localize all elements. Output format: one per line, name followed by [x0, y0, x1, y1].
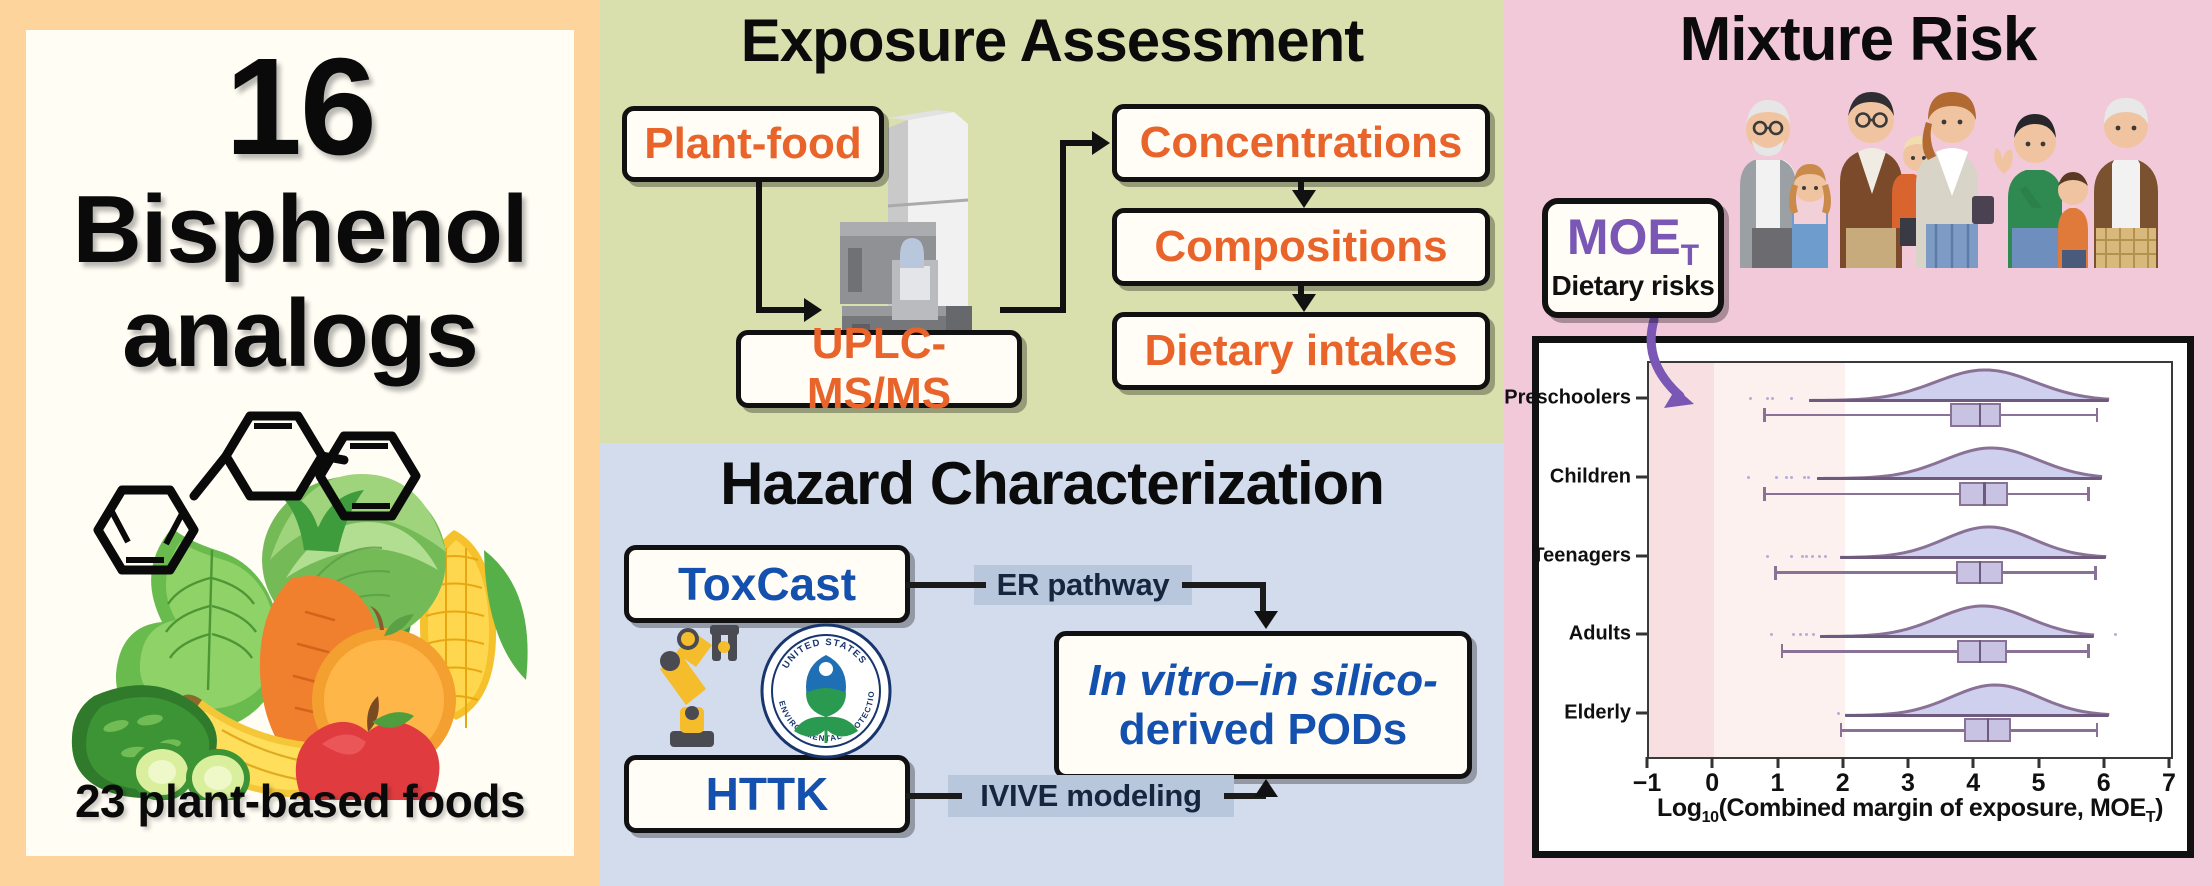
connector-erpathway-right: [1182, 582, 1266, 588]
connector-plantfood-down: [756, 182, 762, 310]
x-axis-tick: [1776, 757, 1779, 768]
box-moe-t[interactable]: MOET Dietary risks: [1542, 198, 1724, 318]
x-axis-tick: [1841, 757, 1844, 768]
pods-line-2: derived PODs: [1119, 705, 1408, 754]
bisphenol-heading: Bisphenol analogs: [26, 178, 574, 385]
arrow-conc-to-comp: [1292, 190, 1316, 208]
outlier-point: [1824, 555, 1827, 558]
box-in-vitro-in-silico-pods[interactable]: In vitro–in silico- derived PODs: [1054, 631, 1472, 779]
whisker-cap-low: [1763, 408, 1766, 422]
plant-based-foods-caption: 23 plant-based foods: [26, 774, 574, 828]
box-preschoolers: [1950, 403, 2001, 427]
y-axis-label-elderly: Elderly: [1564, 702, 1631, 725]
whisker-cap-high: [2087, 487, 2090, 501]
bisphenol-heading-line2: analogs: [122, 280, 478, 387]
density-rug-preschoolers: [1809, 399, 2109, 402]
x-axis-tick: [1907, 757, 1910, 768]
density-rug-teenagers: [1840, 556, 2106, 559]
bisphenol-count: 16: [26, 38, 574, 176]
y-axis-tick: [1636, 475, 1647, 478]
x-axis-tick: [2102, 757, 2105, 768]
box-compositions-label: Compositions: [1154, 222, 1447, 272]
box-concentrations-label: Concentrations: [1140, 118, 1463, 168]
bisphenol-molecule-and-produce-illustration: [54, 400, 546, 800]
outlier-point: [1790, 555, 1793, 558]
connector-httk-right: [906, 793, 962, 799]
moe-t-label: MOET: [1567, 214, 1699, 270]
box-httk-label: HTTK: [706, 767, 829, 821]
whisker-adults: [1781, 650, 2088, 653]
y-axis-label-preschoolers: Preschoolers: [1504, 387, 1631, 410]
x-axis-tick: [1711, 757, 1714, 768]
box-uplc-ms-ms[interactable]: UPLC-MS/MS: [736, 330, 1022, 408]
whisker-cap-low: [1840, 723, 1843, 737]
arrow-to-pods-bottom: [1254, 779, 1278, 797]
density-curve-teenagers: [1840, 526, 2106, 558]
box-plant-food-label: Plant-food: [644, 119, 862, 169]
middle-column: Exposure Assessment: [600, 0, 1504, 886]
mixture-risk-title: Mixture Risk: [1504, 4, 2212, 75]
box-httk[interactable]: HTTK: [624, 755, 910, 833]
outlier-point: [1766, 555, 1769, 558]
moe-t-caption: Dietary risks: [1552, 270, 1715, 302]
arrow-to-concentrations: [1092, 131, 1110, 155]
median-line-preschoolers: [1979, 403, 1982, 427]
moe-boxplot-chart: PreschoolersChildrenTeenagersAdultsElder…: [1532, 336, 2194, 858]
pods-line-1: In vitro–in silico-: [1088, 656, 1438, 705]
bisphenol-heading-line1: Bisphenol: [72, 176, 527, 283]
outlier-point: [1803, 476, 1806, 479]
median-line-children: [1983, 482, 1986, 506]
density-rug-children: [1817, 477, 2102, 480]
box-toxcast[interactable]: ToxCast: [624, 545, 910, 623]
connector-toxcast-right: [906, 582, 986, 588]
whisker-cap-low: [1774, 566, 1777, 580]
box-adults: [1957, 640, 2007, 664]
outlier-point: [1801, 555, 1804, 558]
connector-instrument-right: [1000, 307, 1066, 313]
x-axis-tick: [1972, 757, 1975, 768]
tag-ivive-modeling: IVIVE modeling: [948, 775, 1234, 817]
connector-to-concentrations: [1060, 140, 1096, 146]
multigenerational-family-illustration: [1740, 78, 2210, 268]
outlier-point: [1775, 476, 1778, 479]
whisker-cap-low: [1763, 487, 1766, 501]
panel-bisphenol-overview: 16 Bisphenol analogs: [0, 0, 600, 886]
median-line-teenagers: [1979, 561, 1982, 585]
whisker-cap-high: [2096, 723, 2099, 737]
whisker-teenagers: [1774, 571, 2094, 574]
arrow-to-pods-top: [1254, 611, 1278, 629]
y-axis-label-adults: Adults: [1569, 623, 1631, 646]
high-risk-band: [1649, 363, 1714, 757]
outlier-point: [1790, 397, 1793, 400]
arrow-to-instrument: [804, 298, 822, 322]
median-line-elderly: [1987, 718, 1990, 742]
whisker-cap-high: [2096, 408, 2099, 422]
y-axis-tick: [1636, 633, 1647, 636]
x-axis-tick: [2168, 757, 2171, 768]
y-axis-label-children: Children: [1550, 465, 1631, 488]
density-curve-elderly: [1845, 684, 2109, 716]
connector-instrument-up: [1060, 140, 1066, 313]
outlier-point: [1837, 712, 1840, 715]
moe-t-main-text: MOE: [1567, 209, 1681, 265]
panel-exposure-assessment: Exposure Assessment: [600, 0, 1504, 443]
panel-mixture-risk: Mixture Risk: [1504, 0, 2212, 886]
connector-plantfood-right: [756, 307, 806, 313]
outlier-point: [1785, 476, 1788, 479]
outlier-point: [1811, 555, 1814, 558]
x-axis-title: Log10(Combined margin of exposure, MOET): [1647, 794, 2173, 827]
median-line-adults: [1979, 640, 1982, 664]
density-curve-adults: [1820, 605, 2094, 637]
box-concentrations[interactable]: Concentrations: [1112, 104, 1490, 182]
tag-er-pathway: ER pathway: [974, 565, 1192, 605]
connector-erpathway-down: [1260, 582, 1266, 614]
y-axis-tick: [1636, 712, 1647, 715]
whisker-preschoolers: [1763, 414, 2096, 417]
box-dietary-intakes[interactable]: Dietary intakes: [1112, 312, 1490, 390]
panel-hazard-characterization: Hazard Characterization ToxCast HTTK: [600, 443, 1504, 886]
y-axis-tick: [1636, 554, 1647, 557]
y-axis-label-teenagers: Teenagers: [1532, 544, 1631, 567]
outlier-point: [1749, 397, 1752, 400]
plot-area: [1647, 361, 2173, 759]
us-epa-seal: UNITED STATES ENVIRONMENTAL PROTECTION A…: [758, 621, 894, 761]
density-rug-elderly: [1845, 714, 2109, 717]
robotic-arm-illustration: [630, 625, 756, 755]
moderate-risk-band: [1714, 363, 1845, 757]
whisker-cap-low: [1781, 644, 1784, 658]
graphical-abstract: 16 Bisphenol analogs: [0, 0, 2212, 886]
box-dietary-intakes-label: Dietary intakes: [1144, 326, 1457, 376]
tag-ivive-modeling-label: IVIVE modeling: [980, 778, 1201, 814]
moe-t-subscript: T: [1681, 239, 1699, 272]
box-plant-food[interactable]: Plant-food: [622, 106, 884, 182]
outlier-point: [1747, 476, 1750, 479]
box-uplc-ms-ms-label: UPLC-MS/MS: [741, 319, 1017, 419]
bisphenol-card: 16 Bisphenol analogs: [26, 30, 574, 856]
arrow-comp-to-intake: [1292, 294, 1316, 312]
outlier-point: [1790, 476, 1793, 479]
density-curve-children: [1817, 447, 2102, 479]
whisker-children: [1763, 493, 2087, 496]
density-curve-preschoolers: [1809, 369, 2109, 401]
density-rug-adults: [1820, 635, 2094, 638]
x-axis-tick: [1646, 757, 1649, 768]
y-axis-tick: [1636, 397, 1647, 400]
hazard-characterization-title: Hazard Characterization: [600, 449, 1504, 518]
box-compositions[interactable]: Compositions: [1112, 208, 1490, 286]
tag-er-pathway-label: ER pathway: [997, 567, 1170, 603]
whisker-cap-high: [2094, 566, 2097, 580]
x-axis-tick: [2037, 757, 2040, 768]
exposure-assessment-title: Exposure Assessment: [600, 6, 1504, 75]
box-toxcast-label: ToxCast: [678, 557, 856, 611]
whisker-cap-high: [2087, 644, 2090, 658]
